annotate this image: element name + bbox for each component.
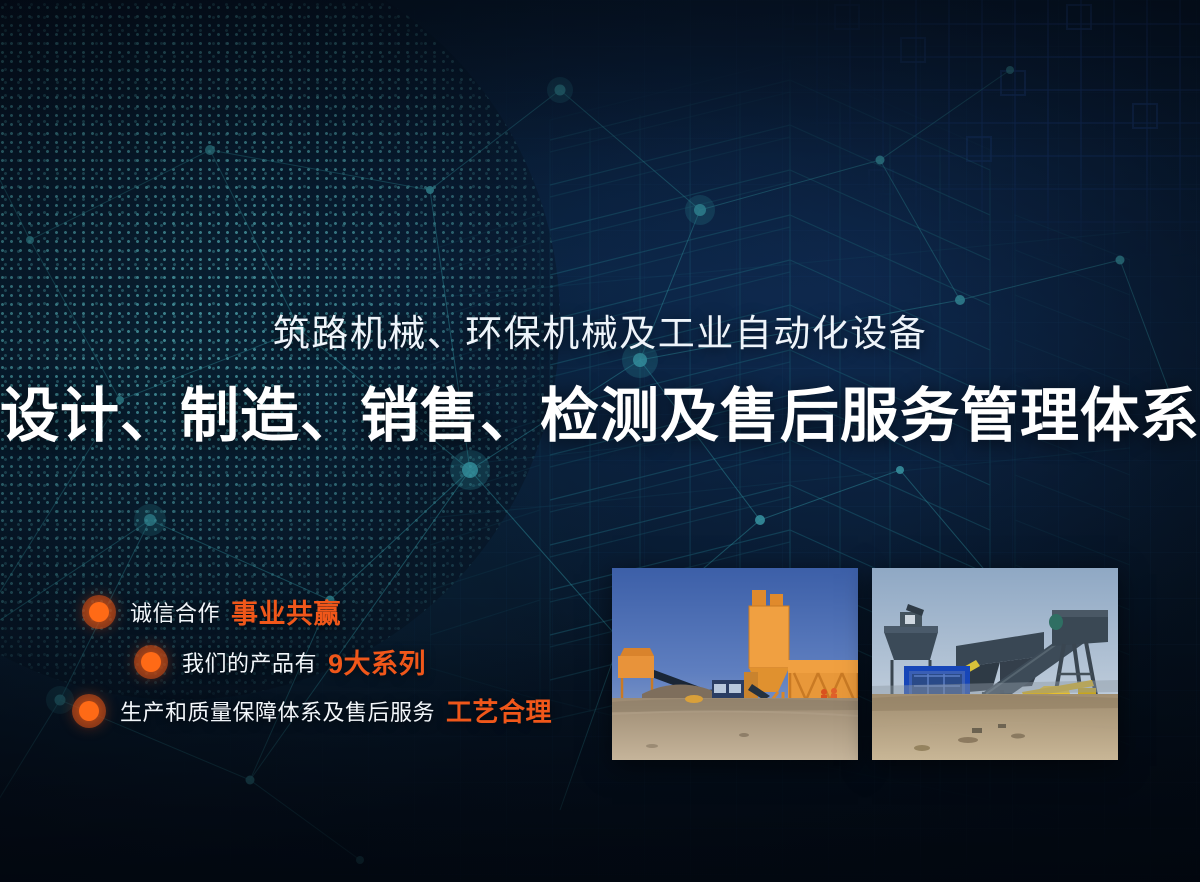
bullet-2-text: 我们的产品有 (182, 646, 317, 678)
product-photo-group: 混凝土搅拌站 橙色水泥筒仓与输送带 (612, 568, 1118, 760)
bullet-1-text: 诚信合作 (130, 596, 220, 628)
promo-banner: 筑路机械、环保机械及工业自动化设备 设计、制造、销售、检测及售后服务管理体系 诚… (0, 0, 1200, 882)
feature-bullet-1: 诚信合作 事业共赢 (82, 592, 341, 631)
banner-headline: 设计、制造、销售、检测及售后服务管理体系 (0, 368, 1200, 453)
feature-bullet-3: 生产和质量保障体系及售后服务 工艺合理 (72, 692, 552, 729)
bullet-2-accent: 9大系列 (328, 642, 426, 681)
feature-bullet-2: 我们的产品有 9大系列 (134, 642, 426, 681)
bullet-1-accent: 事业共赢 (231, 592, 341, 631)
photo-mobile-mixing-plant: 移动式搅拌设备 蓝色操作室与黄色吊车 (872, 568, 1118, 760)
photo-concrete-batching-plant: 混凝土搅拌站 橙色水泥筒仓与输送带 (612, 568, 858, 760)
bullet-3-text: 生产和质量保障体系及售后服务 (120, 695, 435, 727)
banner-subtitle: 筑路机械、环保机械及工业自动化设备 (0, 303, 1200, 357)
orange-dot-icon (72, 694, 106, 728)
bullet-3-accent: 工艺合理 (446, 692, 552, 729)
orange-dot-icon (134, 645, 168, 679)
orange-dot-icon (82, 595, 116, 629)
